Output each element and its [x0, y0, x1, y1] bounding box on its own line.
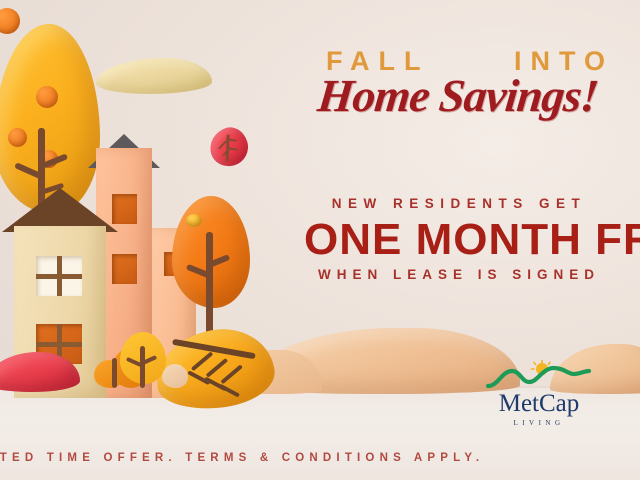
beige-pumpkin — [162, 364, 188, 388]
tan-hill-center — [250, 328, 520, 394]
headline-block: FALL INTO Home Savings! — [300, 46, 640, 119]
cream-cloud-icon — [96, 58, 212, 94]
offer-block: NEW RESIDENTS GET ONE MONTH FREE WHEN LE… — [278, 196, 640, 282]
footer-disclaimer: LIMITED TIME OFFER. TERMS & CONDITIONS A… — [0, 452, 476, 464]
bush-stem — [140, 346, 145, 388]
offer-eyebrow: NEW RESIDENTS GET — [278, 196, 640, 211]
red-floating-leaf-icon — [205, 123, 253, 171]
tree-accent-dot — [186, 214, 202, 227]
orange-sphere-topleft — [0, 8, 20, 34]
headline-script: Home Savings! — [316, 73, 640, 119]
promo-banner: FALL INTO Home Savings! NEW RESIDENTS GE… — [0, 0, 640, 480]
logo-mark — [486, 360, 592, 390]
bush-stem — [112, 358, 117, 388]
metcap-logo[interactable]: MetCap LIVING — [486, 360, 592, 427]
sun-and-hills-icon — [486, 360, 592, 390]
tree-fruit — [8, 128, 27, 147]
house-window — [112, 254, 137, 284]
offer-subline: WHEN LEASE IS SIGNED — [278, 267, 640, 282]
logo-tagline: LIVING — [486, 419, 592, 427]
tree-fruit — [36, 86, 58, 108]
offer-headline: ONE MONTH FREE — [304, 216, 640, 264]
logo-wordmark: MetCap — [486, 391, 592, 416]
yellow-tree-crown — [0, 24, 100, 214]
